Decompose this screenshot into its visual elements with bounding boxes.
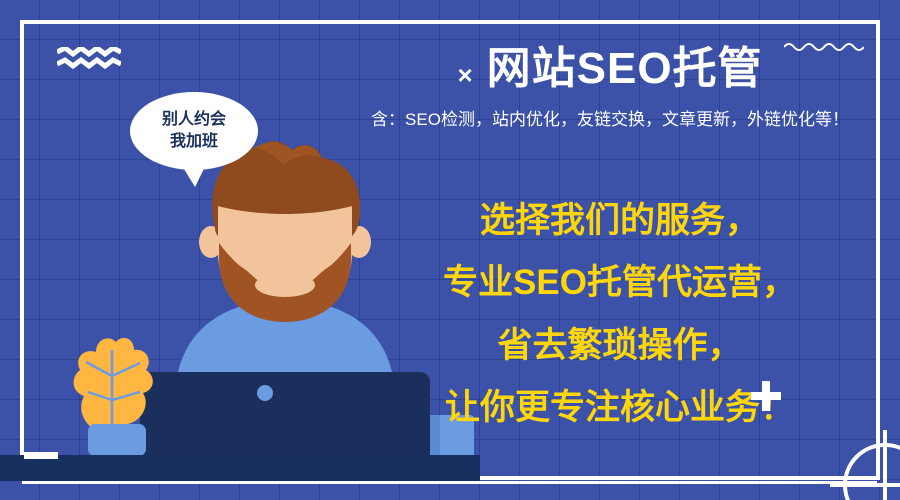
speech-bubble-line-2: 我加班 xyxy=(170,131,218,153)
desk-edge-line xyxy=(22,481,877,484)
seo-promo-banner: 别人约会 我加班 × 网站SEO托管 含：SEO检测，站内优化，友链交换，文章更… xyxy=(0,0,900,500)
double-wave-icon xyxy=(57,47,121,69)
thin-wave-icon xyxy=(784,41,864,53)
mouth-shape xyxy=(255,273,315,297)
laptop-shape xyxy=(140,372,430,462)
speech-bubble-line-1: 别人约会 xyxy=(162,109,226,131)
plus-icon xyxy=(751,381,781,411)
circle-crosshair-icon xyxy=(830,430,900,500)
page-subtitle: 含：SEO检测，站内优化，友链交换，文章更新，外链优化等！ xyxy=(330,105,890,130)
laptop-logo xyxy=(257,385,273,401)
page-title: 网站SEO托管 xyxy=(487,44,763,95)
slogan-line-2: 专业SEO托管代运营， xyxy=(410,252,830,314)
slogan-line-1: 选择我们的服务， xyxy=(410,190,830,252)
desk-accent-chip xyxy=(24,452,58,459)
potted-plant xyxy=(74,338,153,456)
slogan-line-3: 省去繁琐操作， xyxy=(410,315,830,377)
close-icon: × xyxy=(457,62,472,88)
speech-bubble: 别人约会 我加班 xyxy=(130,92,258,170)
desk-surface xyxy=(0,455,480,481)
header-block: × 网站SEO托管 含：SEO检测，站内优化，友链交换，文章更新，外链优化等！ xyxy=(330,44,890,130)
